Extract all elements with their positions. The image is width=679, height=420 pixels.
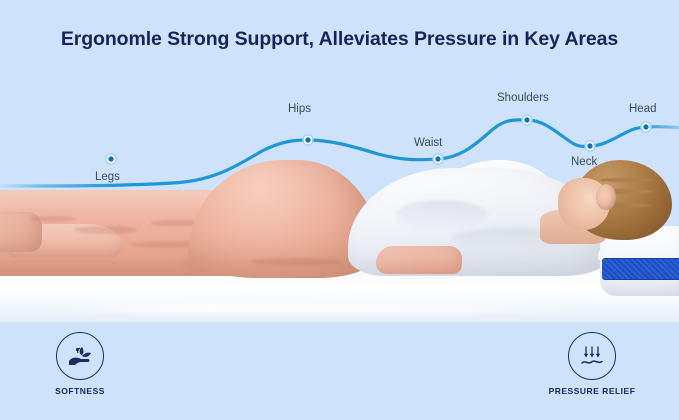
fabric-crease (250, 258, 342, 266)
feature-caption: PRESSURE RELIEF (549, 386, 636, 396)
feature-pressure-relief: PRESSURE RELIEF (527, 332, 657, 396)
feature-caption: SOFTNESS (55, 386, 105, 396)
fabric-crease (74, 226, 138, 234)
fabric-crease (30, 216, 76, 222)
curve-label-head: Head (629, 103, 657, 115)
person-arm (376, 246, 462, 274)
hand-with-leaves-icon (56, 332, 104, 380)
curve-label-neck: Neck (571, 156, 597, 168)
page-title: Ergonomle Strong Support, Alleviates Pre… (0, 28, 679, 51)
shirt-fold (396, 200, 488, 230)
hair-strand (600, 178, 654, 182)
pillow-mesh-band (602, 258, 679, 280)
curve-label-hips: Hips (288, 103, 311, 115)
curve-label-legs: Legs (95, 171, 120, 183)
mattress-highlight (40, 304, 600, 314)
person-ear (596, 184, 616, 210)
downward-arrows-wave-icon (568, 332, 616, 380)
feature-softness: SOFTNESS (26, 332, 134, 396)
curve-label-shoulders: Shoulders (497, 92, 549, 104)
curve-label-waist: Waist (414, 137, 442, 149)
infographic-stage: Ergonomle Strong Support, Alleviates Pre… (0, 0, 679, 420)
product-scene-photo (0, 110, 679, 322)
feature-bar: SOFTNESS PRESSURE RELIEF EXTR (0, 322, 679, 420)
